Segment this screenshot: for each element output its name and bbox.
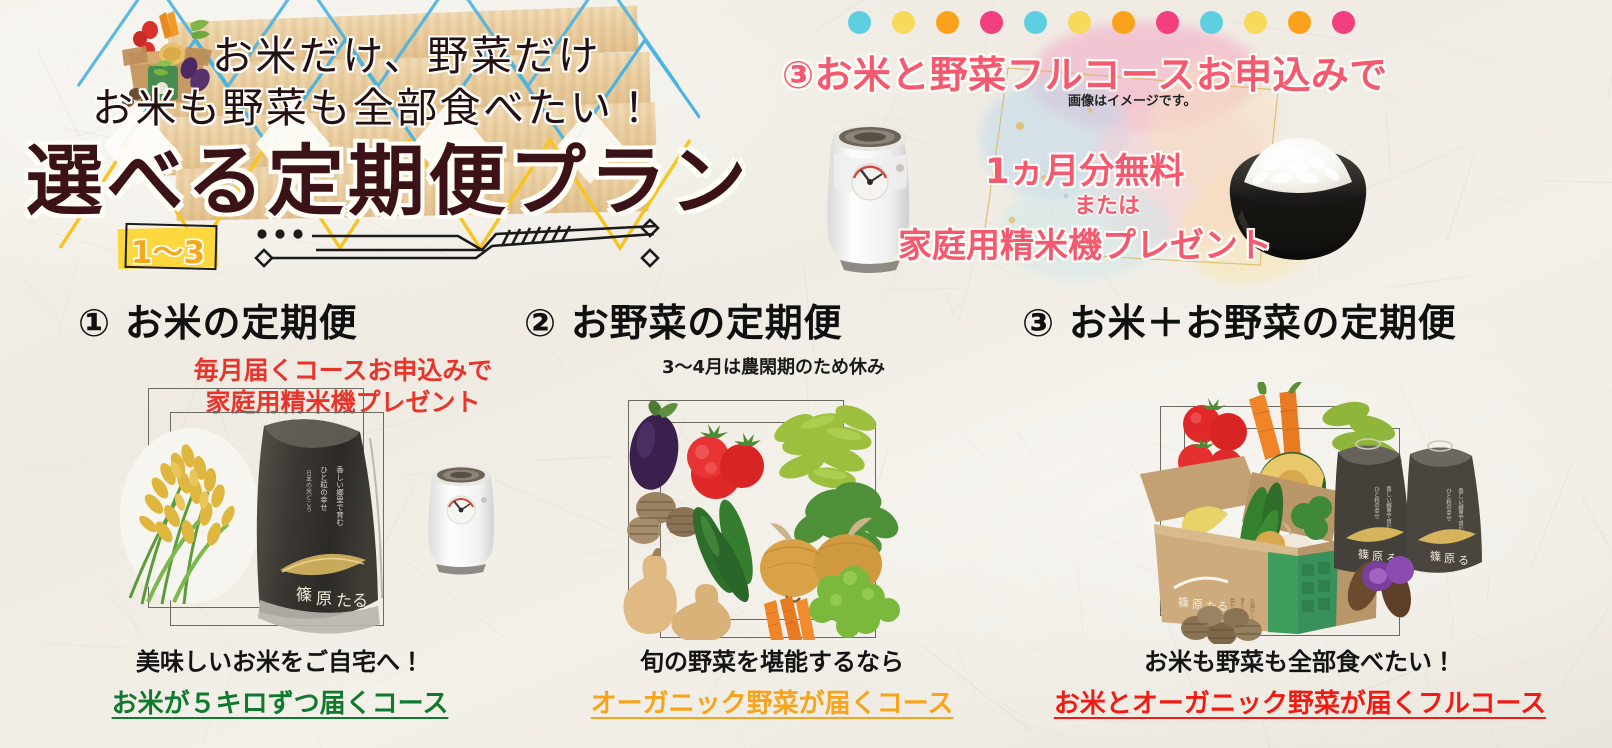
decorative-dot-3	[936, 11, 959, 34]
decorative-dot-11	[1288, 11, 1311, 34]
svg-text:香しい郷里で育む: 香しい郷里で育む	[1385, 485, 1392, 530]
promo-benefit-main: 1ヵ月分無料	[985, 143, 1184, 194]
page-title: 選べる定期便プラン	[26, 120, 750, 231]
plan-title-full: ③ お米＋お野菜の定期便	[962, 292, 1592, 347]
caption-block-rice: 美味しいお米をご自宅へ！ お米が５キロずつ届くコース	[40, 642, 520, 720]
eggplant-icon	[625, 400, 683, 493]
tagline-line-1: お米だけ、野菜だけ	[212, 22, 601, 82]
decorative-dot-8	[1156, 11, 1179, 34]
promo-benefit-or: または	[1074, 188, 1140, 220]
svg-text:ひと粒の幸せ: ひと粒の幸せ	[1373, 486, 1380, 519]
svg-text:篠: 篠	[1178, 595, 1189, 609]
carrots-icon	[764, 596, 815, 640]
course-link-full[interactable]: お米とオーガニック野菜が届くフルコース	[1000, 683, 1600, 720]
svg-text:たる: たる	[336, 591, 368, 610]
assorted-vegetables-photo	[596, 382, 946, 640]
edamame-icon	[770, 400, 880, 491]
decorative-dot-4	[980, 11, 1003, 34]
decorative-dot-5	[1024, 11, 1047, 34]
plan-column-full: ③ お米＋お野菜の定期便	[962, 292, 1592, 347]
rice-polisher-icon	[418, 452, 504, 576]
promo-benefit-alt: 家庭用精米機プレゼント	[898, 218, 1272, 267]
tomatoes-icon	[687, 424, 764, 499]
caption-text-vegetables: 旬の野菜を堪能するなら	[542, 642, 1002, 677]
plan-column-vegetables: ② お野菜の定期便 3〜4月は農閑期のため休み	[512, 292, 982, 379]
plan-title-vegetables: ② お野菜の定期便	[512, 292, 982, 347]
caption-text-full: お米も野菜も全部食べたい！	[1000, 642, 1600, 677]
taro-icon	[627, 492, 702, 544]
plan-subtitle-line-1: 毎月届くコースお申込みで	[154, 355, 532, 387]
caption-text-rice: 美味しいお米をご自宅へ！	[40, 642, 520, 677]
svg-text:篠: 篠	[296, 585, 312, 604]
vegetable-box-with-rice-bags-photo: 篠原たる 豊かな大地が 育てた野菜を お届けします 香しい郷里で育む ひと粒の幸…	[1092, 382, 1502, 644]
promo-image-note: 画像はイメージです。	[1068, 90, 1196, 109]
decorative-dot-1	[848, 11, 871, 34]
badge-label: 1〜3	[118, 227, 218, 272]
rice-bag-icon: 香しい郷里で育む ひと粒の幸せ 篠原る	[1334, 439, 1410, 573]
svg-text:香しい郷里で育む: 香しい郷里で育む	[1457, 487, 1464, 532]
decorative-dot-9	[1200, 11, 1223, 34]
range-badge: 1〜3	[118, 224, 218, 270]
rice-bag-photo: 香しい郷里で育む ひと粒の幸せ 日本の米どころ 篠原たる	[224, 404, 404, 640]
plan-note-vegetables: 3〜4月は農閑期のため休み	[512, 353, 982, 379]
svg-text:ひと粒の幸せ: ひと粒の幸せ	[1445, 488, 1452, 521]
decorative-dot-10	[1244, 11, 1267, 34]
caption-block-full: お米も野菜も全部食べたい！ お米とオーガニック野菜が届くフルコース	[1000, 642, 1600, 720]
rice-bag-icon: 香しい郷里で育む ひと粒の幸せ 篠原る	[1406, 441, 1482, 573]
decorative-dot-7	[1112, 11, 1135, 34]
plan-title-rice: ① お米の定期便	[62, 292, 532, 347]
svg-text:日本の米どころ: 日本の米どころ	[305, 470, 312, 513]
decorative-dot-2	[892, 11, 915, 34]
svg-text:香しい郷里で育む: 香しい郷里で育む	[335, 465, 344, 527]
svg-text:る: る	[1458, 554, 1469, 567]
decorative-dot-12	[1332, 11, 1355, 34]
course-link-vegetables[interactable]: オーガニック野菜が届くコース	[542, 683, 1002, 720]
svg-text:原: 原	[1444, 552, 1455, 565]
svg-text:篠: 篠	[1430, 549, 1441, 563]
svg-text:篠: 篠	[1358, 547, 1369, 561]
course-link-rice[interactable]: お米が５キロずつ届くコース	[40, 683, 520, 720]
svg-text:ひと粒の幸せ: ひと粒の幸せ	[319, 466, 328, 512]
decorative-dots-row	[848, 11, 1355, 34]
banner-stage: お米だけ、野菜だけ お米も野菜も全部食べたい！ 選べる定期便プラン 1〜3	[0, 0, 1612, 748]
carrots-icon	[1249, 382, 1308, 461]
caption-block-vegetables: 旬の野菜を堪能するなら オーガニック野菜が届くコース	[542, 642, 1002, 720]
svg-text:原: 原	[316, 589, 332, 608]
decorative-dot-6	[1068, 11, 1091, 34]
